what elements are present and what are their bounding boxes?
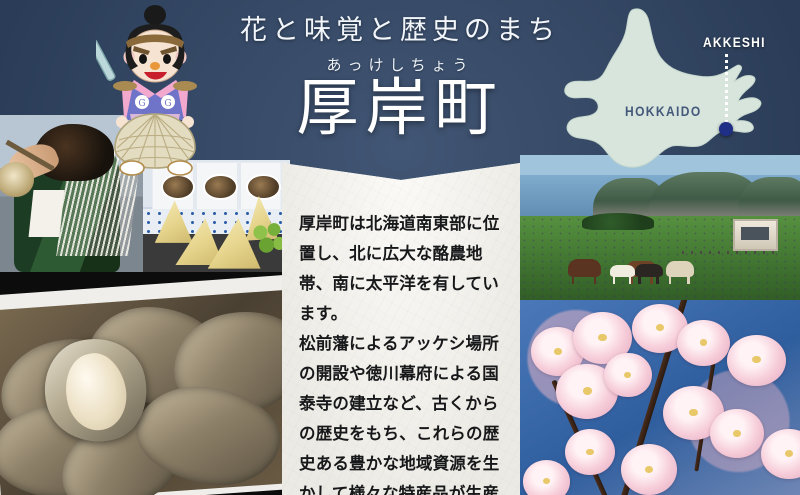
- cherry-blossom: [677, 320, 730, 367]
- svg-text:G: G: [164, 99, 171, 109]
- pasture-photo: [520, 155, 800, 300]
- map-leader-line: [725, 54, 728, 126]
- cherry-blossom-photo: [520, 300, 800, 495]
- white-tray: [0, 275, 290, 495]
- oyster-photo: [0, 272, 290, 495]
- mascot-shoulder-pad-right: [173, 81, 197, 91]
- description-panel: 厚岸町は北海道南東部に位置し、北に広大な酪農地帯、南に太平洋を有しています。 松…: [282, 163, 520, 495]
- header-block: 花と味覚と歴史のまち あっけしちょう 厚岸町: [196, 8, 604, 139]
- description-paragraph-2: 松前藩によるアッケシ場所の開設や徳川幕府による国泰寺の建立など、古くからの歴史を…: [299, 329, 503, 495]
- horse: [666, 261, 694, 277]
- town-name: 厚岸町: [196, 76, 604, 139]
- mascot-foot-right: [168, 161, 192, 175]
- shrub-row: [582, 213, 655, 230]
- mascot-eye-right: [163, 54, 171, 64]
- map-label-akkeshi: AKKESHI: [703, 34, 766, 50]
- horse: [610, 265, 635, 277]
- parsley-garnish: [249, 218, 287, 258]
- pasture-signboard: [733, 219, 778, 251]
- mascot-nose: [150, 62, 160, 70]
- cherry-blossom: [727, 335, 786, 386]
- akkeshi-promotional-banner: HOKKAIDO AKKESHI: [0, 0, 800, 495]
- cherry-blossom: [565, 429, 615, 476]
- horse: [635, 264, 663, 277]
- horse: [568, 259, 602, 276]
- description-paragraph-1: 厚岸町は北海道南東部に位置し、北に広大な酪農地帯、南に太平洋を有しています。: [299, 209, 503, 329]
- mascot-shoulder-pad-left: [113, 81, 137, 91]
- fence-line: [682, 251, 777, 254]
- cherry-blossom: [604, 353, 652, 398]
- mascot-eye-left: [139, 54, 147, 64]
- map-label-hokkaido: HOKKAIDO: [625, 103, 702, 119]
- akkeshi-map-marker: [719, 122, 733, 136]
- cherry-blossom: [621, 444, 677, 495]
- mascot-sword: [96, 39, 116, 82]
- tray-interior: [0, 290, 290, 495]
- tagline: 花と味覚と歴史のまち: [196, 8, 604, 47]
- mascot-foot-left: [120, 161, 144, 175]
- description-body: 厚岸町は北海道南東部に位置し、北に広大な酪農地帯、南に太平洋を有しています。 松…: [282, 163, 520, 495]
- cherry-blossom: [761, 429, 800, 480]
- cherry-blossom: [523, 460, 571, 495]
- svg-text:G: G: [138, 99, 145, 109]
- cherry-blossom: [710, 409, 763, 458]
